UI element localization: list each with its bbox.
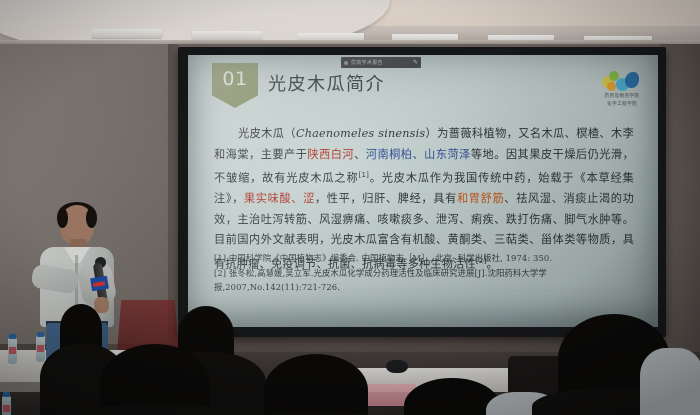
bottle-cap <box>47 388 54 393</box>
conference-room-photo: 01 光皮木瓜简介 优效学术报告 ✎ 药剂及制剂学院 化学工程学院 <box>0 0 700 415</box>
water-bottle <box>36 336 45 362</box>
highlight-region-shaanxi: 陕西白河 <box>307 148 354 161</box>
pink-folder <box>336 384 416 406</box>
presenter-hand <box>94 297 109 313</box>
presenter-hair-side <box>57 208 68 228</box>
highlight-region-henan-shandong: 河南桐柏、山东菏泽 <box>366 148 471 161</box>
highlight-effect: 和胃舒筋 <box>457 192 504 205</box>
reference-list: [1] 中国科学院《中国植物志》编委会. 中国植物志［M］. 北京: 科学出版社… <box>214 251 638 295</box>
blue-indicator-light <box>663 355 670 364</box>
water-bottle <box>46 392 55 415</box>
reference-item: [2] 张冬松,高慧媛,吴立军.光皮木瓜化学成分药理活性及临床研究进展[J].沈… <box>214 266 638 295</box>
slide-overlay-toolbar[interactable]: 优效学术报告 ✎ <box>341 57 421 68</box>
university-logo: 药剂及制剂学院 化学工程学院 <box>594 69 650 113</box>
highlight-taste: 果实味酸、涩 <box>244 192 315 205</box>
pencil-icon[interactable]: ✎ <box>413 59 418 66</box>
table-microphone-base <box>386 360 408 373</box>
body-seg-1: 光皮木瓜（ <box>238 127 296 140</box>
water-bottle <box>2 396 11 415</box>
projection-screen: 01 光皮木瓜简介 优效学术报告 ✎ 药剂及制剂学院 化学工程学院 <box>188 55 658 327</box>
chair-back <box>508 356 612 415</box>
logo-shape-blue <box>625 72 639 88</box>
microphone-logo-flag <box>90 276 109 291</box>
citation-marker-1: [1] <box>359 171 370 179</box>
left-table-base <box>0 382 144 392</box>
presenter <box>18 205 128 365</box>
section-number: 01 <box>212 68 258 90</box>
slide-title: 光皮木瓜简介 <box>268 70 385 96</box>
logo-circle-orange <box>607 82 616 91</box>
right-wall <box>660 44 700 374</box>
body-seg-10: ，性平，归肝、脾经，具有 <box>315 192 457 205</box>
body-seg-5: 、 <box>354 148 366 161</box>
bottle-cap <box>9 334 16 339</box>
presenter-trousers <box>46 323 108 371</box>
presenter-hair-side <box>86 208 97 228</box>
logo-mark <box>601 69 643 93</box>
ceiling-light-fixture <box>92 29 162 38</box>
ceiling-light-fixture <box>192 31 262 40</box>
presentation-slide: 01 光皮木瓜简介 优效学术报告 ✎ 药剂及制剂学院 化学工程学院 <box>188 55 658 327</box>
bottle-cap <box>37 332 44 337</box>
bottle-cap <box>3 392 10 397</box>
toolbar-dot-icon <box>344 61 348 65</box>
laptop <box>140 348 193 380</box>
logo-text-line-2: 化学工程学院 <box>607 102 637 109</box>
toolbar-label: 优效学术报告 <box>351 59 383 66</box>
water-bottle <box>8 338 17 364</box>
logo-text-line-1: 药剂及制剂学院 <box>605 94 640 101</box>
reference-item: [1] 中国科学院《中国植物志》编委会. 中国植物志［M］. 北京: 科学出版社… <box>214 251 638 266</box>
latin-name: Chaenomeles sinensis <box>296 127 425 140</box>
